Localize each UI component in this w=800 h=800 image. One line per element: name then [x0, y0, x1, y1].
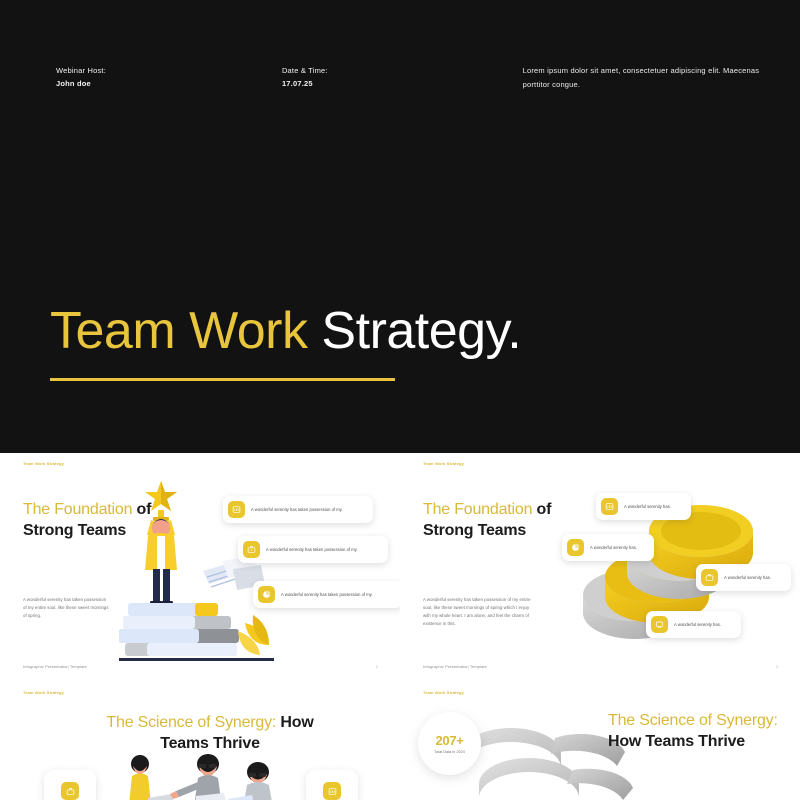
info-card-text: A wonderful serenity has. — [590, 544, 637, 551]
slide-page-number: 2 — [376, 664, 378, 669]
stat-value: 207+ — [435, 733, 463, 748]
slide-heading-accent: The Foundation — [423, 501, 532, 518]
webinar-host-block: Webinar Host: John doe — [56, 64, 282, 92]
slide-thumbnail-2[interactable]: Team Work Strategy The Foundation of Str… — [0, 453, 400, 682]
chart-image-icon — [601, 498, 618, 515]
team-illustration — [110, 754, 300, 800]
briefcase-icon — [243, 541, 260, 558]
chart-image-icon — [323, 782, 341, 800]
webinar-host-label: Webinar Host: — [56, 64, 282, 77]
info-card[interactable]: A wonderful serenity has. — [562, 534, 654, 561]
team-illustration-svg — [110, 754, 300, 800]
info-card[interactable]: A wonderful serenity has taken possessio… — [223, 496, 373, 523]
info-card[interactable]: A wonderful serenity has. — [596, 493, 691, 520]
slide-heading-accent: The Science of Synergy: — [608, 712, 778, 729]
date-time-block: Date & Time: 17.07.25 — [282, 64, 523, 92]
slide-tag: Team Work Strategy — [423, 461, 464, 466]
info-card-text: A wonderful serenity has. — [624, 503, 671, 510]
info-card-text: A wonderful serenity has taken possessio… — [281, 591, 373, 598]
info-card-text: A wonderful serenity has. — [724, 574, 771, 581]
briefcase-icon — [701, 569, 718, 586]
date-time-value: 17.07.25 — [282, 77, 523, 90]
page-title-accent: Team Work — [50, 302, 307, 360]
slide-heading-bold: How Teams Thrive — [608, 733, 745, 750]
icon-tile[interactable] — [44, 770, 96, 800]
info-card[interactable]: A wonderful serenity has. — [646, 611, 741, 638]
pie-chart-icon — [258, 586, 275, 603]
slide-thumbnail-5[interactable]: Team Work Strategy 207+ Total Data in 20… — [400, 682, 800, 800]
slide-tag: Team Work Strategy — [423, 690, 464, 695]
slide-heading-accent: The Science of Synergy: — [106, 714, 276, 731]
stat-label: Total Data in 2024 — [434, 750, 465, 754]
slide-tag: Team Work Strategy — [23, 461, 64, 466]
slide-heading: The Science of Synergy: How Teams Thrive — [608, 710, 778, 752]
info-card-text: A wonderful serenity has taken possessio… — [251, 506, 343, 513]
info-card[interactable]: A wonderful serenity has taken possessio… — [238, 536, 388, 563]
info-card[interactable]: A wonderful serenity has. — [696, 564, 791, 591]
slide-tag: Team Work Strategy — [23, 690, 64, 695]
monitor-icon — [651, 616, 668, 633]
hero-meta-row: Webinar Host: John doe Date & Time: 17.0… — [0, 64, 800, 92]
chart-image-icon — [228, 501, 245, 518]
title-underline — [50, 378, 395, 381]
slide-footer: Infographic Presentation Template — [423, 664, 487, 669]
slide-body-text: A wonderful serenity has taken possessio… — [423, 596, 536, 628]
stat-badge: 207+ Total Data in 2024 — [418, 712, 481, 775]
slide-heading: The Foundation of Strong Teams — [423, 499, 573, 541]
briefcase-icon — [61, 782, 79, 800]
icon-tile[interactable] — [306, 770, 358, 800]
info-card[interactable]: A wonderful serenity has taken possessio… — [253, 581, 400, 608]
date-time-label: Date & Time: — [282, 64, 523, 77]
slide-footer: Infographic Presentation Template — [23, 664, 87, 669]
hero-description: Lorem ipsum dolor sit amet, consectetuer… — [523, 64, 778, 92]
pie-chart-icon — [567, 539, 584, 556]
info-card-text: A wonderful serenity has. — [674, 621, 721, 628]
slide-page-number: 3 — [776, 664, 778, 669]
page-title: Team Work Strategy. — [50, 305, 521, 357]
slide-thumbnail-4[interactable]: Team Work Strategy The Science of Synerg… — [0, 682, 400, 800]
slide-heading: The Science of Synergy: How Teams Thrive — [85, 712, 335, 754]
page-title-plain: Strategy. — [307, 302, 521, 360]
info-card-text: A wonderful serenity has taken possessio… — [266, 546, 358, 553]
slide-thumbnail-grid: Team Work Strategy The Foundation of Str… — [0, 453, 800, 800]
webinar-host-value: John doe — [56, 77, 282, 90]
hero-section: Webinar Host: John doe Date & Time: 17.0… — [0, 0, 800, 453]
slide-thumbnail-3[interactable]: Team Work Strategy The Foundation of Str… — [400, 453, 800, 682]
